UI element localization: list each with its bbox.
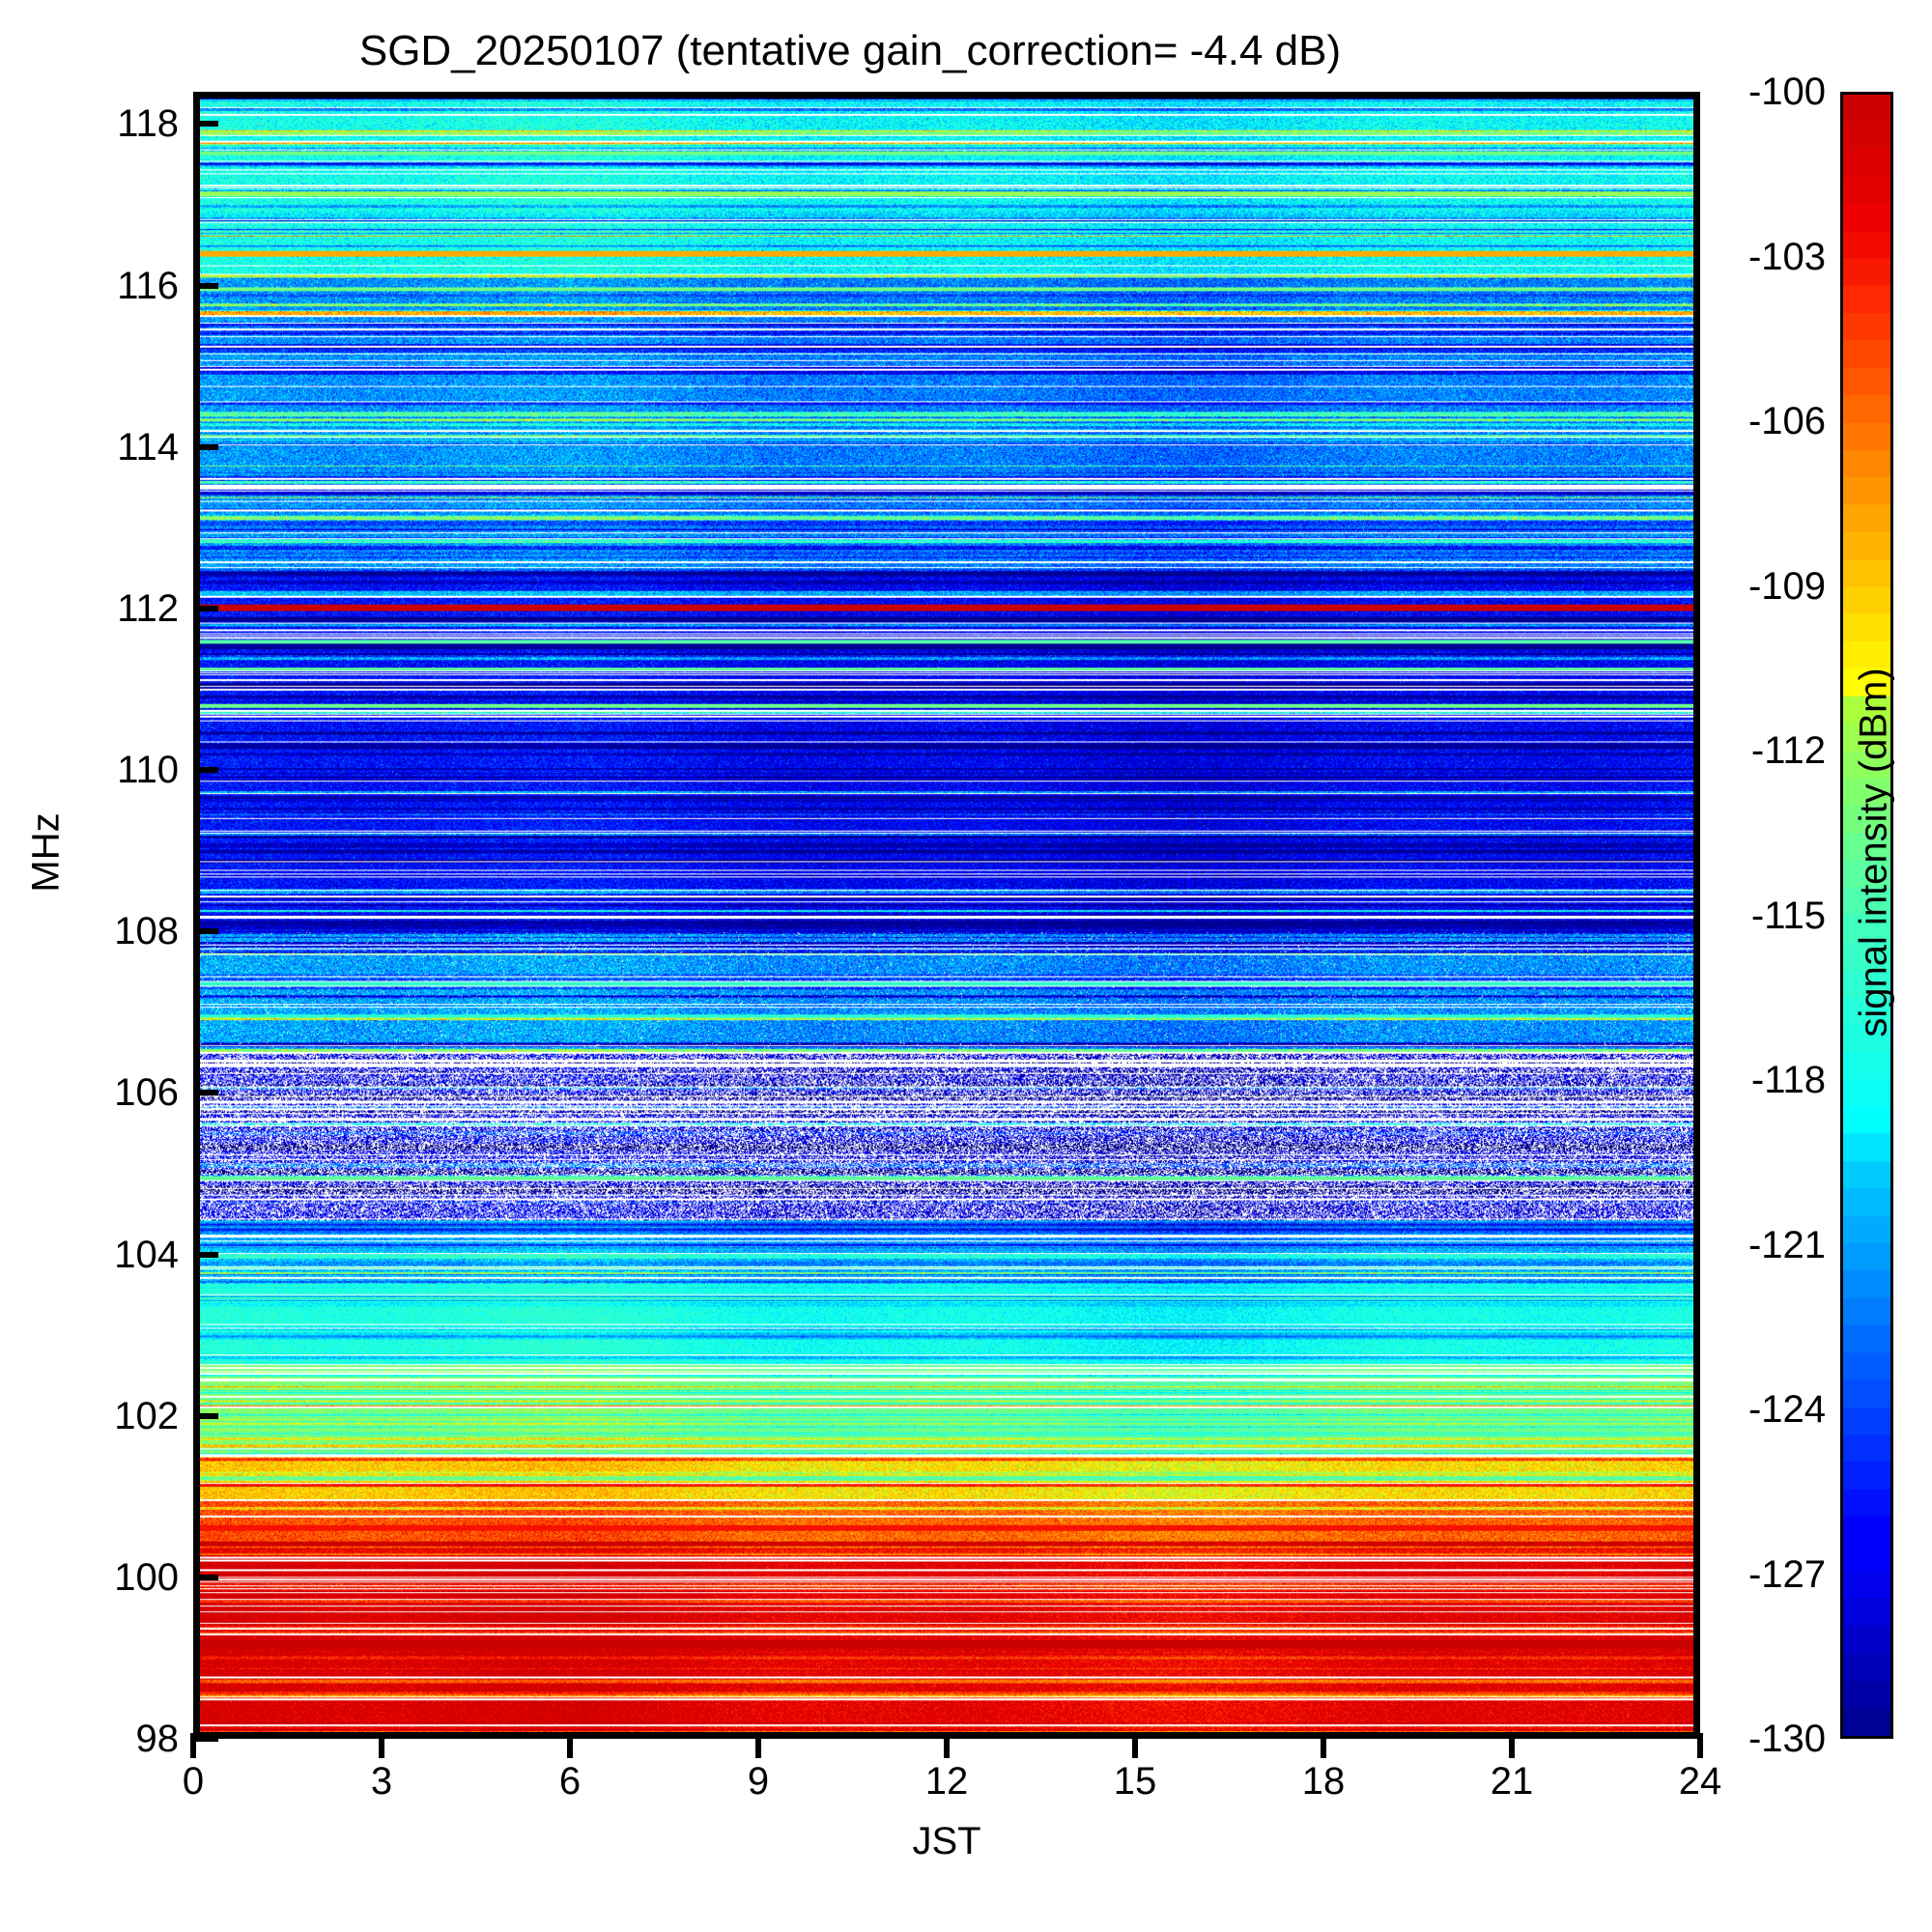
y-tick-label-102: 102	[24, 1395, 179, 1438]
colorbar-tick-label--118: -118	[1613, 1059, 1826, 1102]
colorbar-tick-label--100: -100	[1613, 71, 1826, 114]
x-tick-mark	[567, 1733, 573, 1758]
y-tick-mark	[193, 1413, 218, 1419]
y-tick-mark	[193, 1090, 218, 1095]
y-tick-label-110: 110	[24, 749, 179, 792]
y-tick-mark	[193, 606, 218, 611]
x-tick-mark	[1321, 1733, 1326, 1758]
x-tick-label-6: 6	[502, 1760, 638, 1804]
colorbar-tick-label--103: -103	[1613, 236, 1826, 279]
y-tick-label-118: 118	[24, 102, 179, 146]
x-tick-label-24: 24	[1633, 1760, 1768, 1804]
x-tick-label-21: 21	[1444, 1760, 1579, 1804]
colorbar-tick-label--121: -121	[1613, 1224, 1826, 1267]
x-tick-mark	[379, 1733, 384, 1758]
y-tick-label-100: 100	[24, 1556, 179, 1600]
x-tick-label-12: 12	[879, 1760, 1014, 1804]
y-tick-label-106: 106	[24, 1071, 179, 1115]
x-tick-mark	[944, 1733, 950, 1758]
y-tick-label-108: 108	[24, 910, 179, 953]
y-tick-mark	[193, 283, 218, 289]
page-title: SGD_20250107 (tentative gain_correction=…	[0, 27, 1700, 75]
x-tick-label-3: 3	[314, 1760, 449, 1804]
colorbar-tick-label--106: -106	[1613, 400, 1826, 443]
x-tick-label-18: 18	[1256, 1760, 1391, 1804]
x-tick-mark	[190, 1733, 196, 1758]
y-tick-mark	[193, 121, 218, 127]
x-tick-mark	[755, 1733, 761, 1758]
x-axis-label: JST	[0, 1820, 1893, 1863]
figure-root: SGD_20250107 (tentative gain_correction=…	[0, 0, 1932, 1932]
x-tick-label-0: 0	[126, 1760, 261, 1804]
colorbar-tick-label--130: -130	[1613, 1718, 1826, 1761]
y-tick-label-112: 112	[24, 587, 179, 631]
colorbar-tick-label--127: -127	[1613, 1553, 1826, 1597]
y-tick-label-116: 116	[24, 265, 179, 308]
colorbar-tick-label--112: -112	[1613, 729, 1826, 773]
colorbar-tick-label--115: -115	[1613, 895, 1826, 938]
y-tick-mark	[193, 928, 218, 934]
y-tick-mark	[193, 1252, 218, 1258]
spectrogram-canvas	[200, 99, 1693, 1732]
x-tick-mark	[1509, 1733, 1515, 1758]
x-tick-label-9: 9	[691, 1760, 826, 1804]
y-tick-label-104: 104	[24, 1234, 179, 1277]
spectrogram-plot	[193, 92, 1700, 1739]
y-tick-mark	[193, 444, 218, 450]
y-tick-mark	[193, 1575, 218, 1580]
colorbar-tick-label--109: -109	[1613, 565, 1826, 609]
y-tick-label-114: 114	[24, 426, 179, 469]
x-tick-mark	[1132, 1733, 1138, 1758]
x-tick-label-15: 15	[1067, 1760, 1203, 1804]
y-tick-mark	[193, 767, 218, 773]
colorbar-tick-label--124: -124	[1613, 1388, 1826, 1432]
colorbar-label: signal intensity (dBm)	[1853, 582, 1896, 1123]
y-tick-mark	[193, 1736, 218, 1742]
y-tick-label-98: 98	[24, 1718, 179, 1761]
